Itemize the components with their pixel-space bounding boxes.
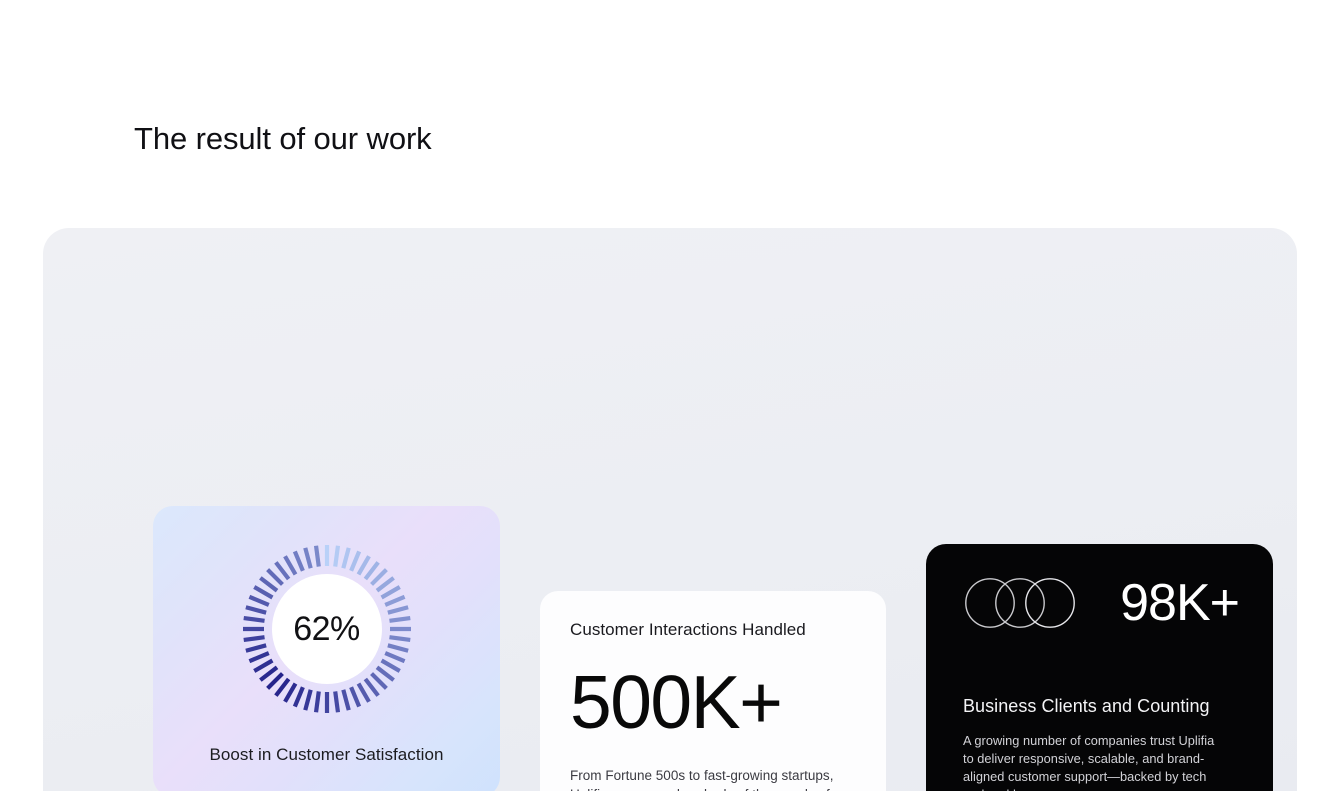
stats-section: The result of our work 62% Boost in Cust…	[0, 0, 1340, 791]
interactions-description: From Fortune 500s to fast-growing startu…	[570, 766, 838, 791]
page-title: The result of our work	[134, 120, 432, 159]
business-clients-card[interactable]: 98K+ Business Clients and Counting A gro…	[926, 544, 1273, 791]
gauge-caption: Boost in Customer Satisfaction	[153, 745, 500, 765]
clients-description: A growing number of companies trust Upli…	[963, 732, 1225, 791]
clients-label: Business Clients and Counting	[963, 695, 1239, 718]
customer-interactions-card[interactable]: Customer Interactions Handled 500K+ From…	[540, 591, 886, 791]
three-overlapping-circles-icon	[963, 577, 1083, 629]
clients-card-header: 98K+	[963, 574, 1239, 632]
satisfaction-gauge-card[interactable]: 62% Boost in Customer Satisfaction	[153, 506, 500, 791]
radial-tick-gauge-icon: 62%	[227, 529, 427, 729]
stats-panel: 62% Boost in Customer Satisfaction Custo…	[43, 228, 1297, 791]
interactions-metric: 500K+	[570, 666, 856, 740]
gauge-value: 62%	[293, 612, 360, 646]
interactions-eyebrow: Customer Interactions Handled	[570, 619, 856, 641]
clients-metric: 98K+	[1120, 577, 1239, 629]
gauge-hub: 62%	[272, 574, 382, 684]
